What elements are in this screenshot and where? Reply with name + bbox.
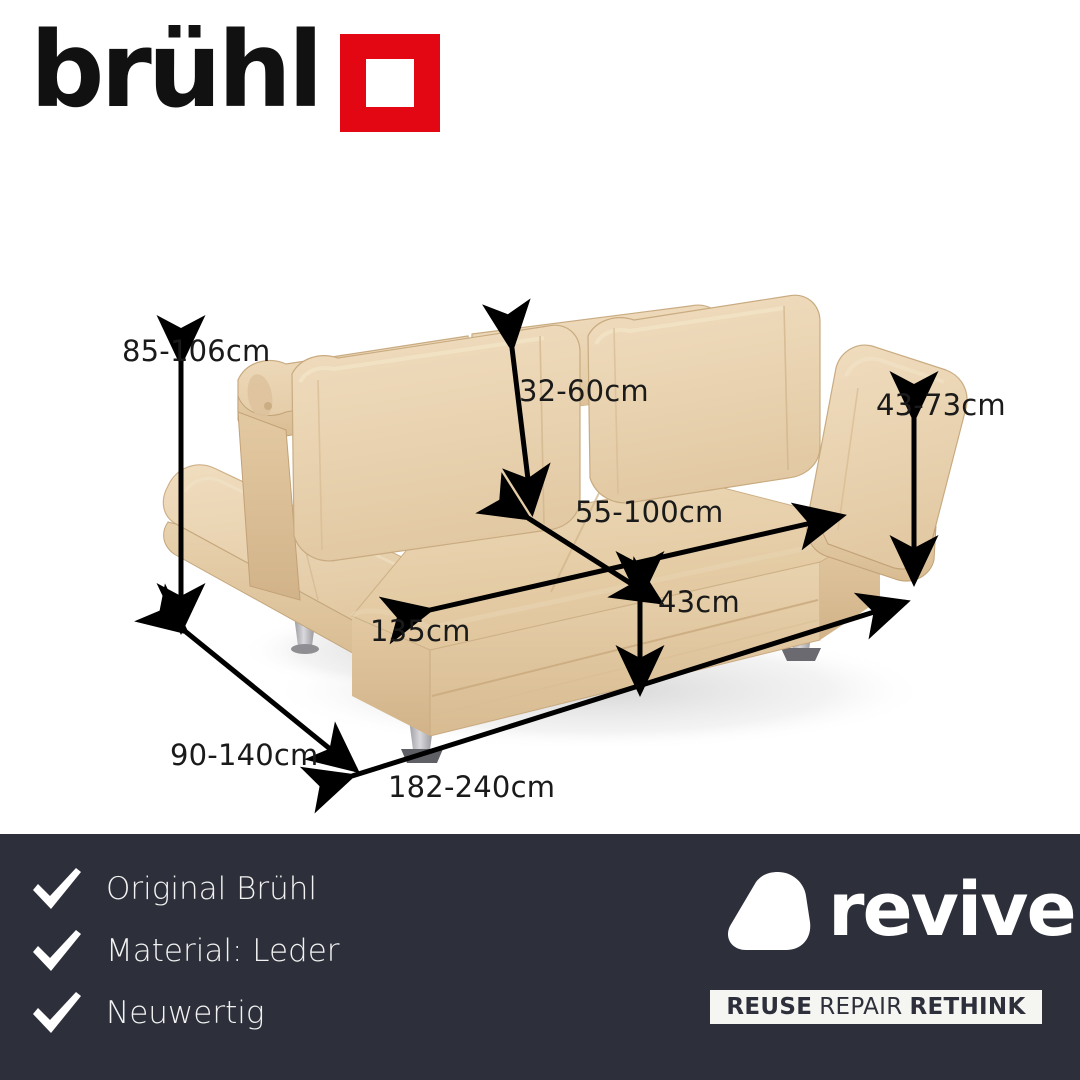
- bruehl-square-logo-inner: [366, 59, 414, 107]
- revive-leaf-mark: [726, 870, 818, 952]
- tagline-word-rethink: RETHINK: [910, 994, 1026, 1020]
- check-icon: [30, 990, 84, 1036]
- product-image-with-dimensions: 85-106cm 32-60cm 43-73cm 55-100cm 135cm …: [0, 130, 1080, 834]
- revive-logo: revive REUSE REPAIR RETHINK: [710, 862, 1050, 1052]
- revive-tagline: REUSE REPAIR RETHINK: [710, 990, 1042, 1024]
- dimension-label-seat-width: 135cm: [370, 614, 471, 648]
- dimension-label-seat-height: 43cm: [658, 585, 740, 619]
- brand-logo: brühl: [30, 14, 430, 124]
- arrow-seat-width: [430, 516, 842, 610]
- feature-label: Neuwertig: [106, 995, 264, 1031]
- dimension-arrows: [0, 130, 1080, 834]
- check-icon: [30, 928, 84, 974]
- revive-wordmark: revive: [828, 868, 1075, 952]
- dimension-label-seat-depth: 55-100cm: [575, 495, 724, 529]
- dimension-label-total-width: 182-240cm: [388, 770, 555, 804]
- dimension-label-total-height: 85-106cm: [122, 334, 271, 368]
- dimension-label-total-depth: 90-140cm: [170, 738, 319, 772]
- tagline-word-reuse: REUSE: [726, 994, 812, 1020]
- arrow-backrest-height: [512, 348, 532, 512]
- feature-list: Original Brühl Material: Leder Neuwertig: [30, 860, 510, 1046]
- footer-bar: Original Brühl Material: Leder Neuwertig…: [0, 834, 1080, 1080]
- feature-item: Neuwertig: [30, 984, 510, 1042]
- dimension-label-armrest-height: 43-73cm: [876, 388, 1006, 422]
- brand-wordmark: brühl: [30, 18, 319, 122]
- feature-item: Material: Leder: [30, 922, 510, 980]
- feature-item: Original Brühl: [30, 860, 510, 918]
- dimension-label-backrest-height: 32-60cm: [519, 374, 649, 408]
- check-icon: [30, 866, 84, 912]
- feature-label: Material: Leder: [106, 933, 340, 969]
- tagline-word-repair: REPAIR: [819, 994, 902, 1020]
- feature-label: Original Brühl: [106, 871, 317, 907]
